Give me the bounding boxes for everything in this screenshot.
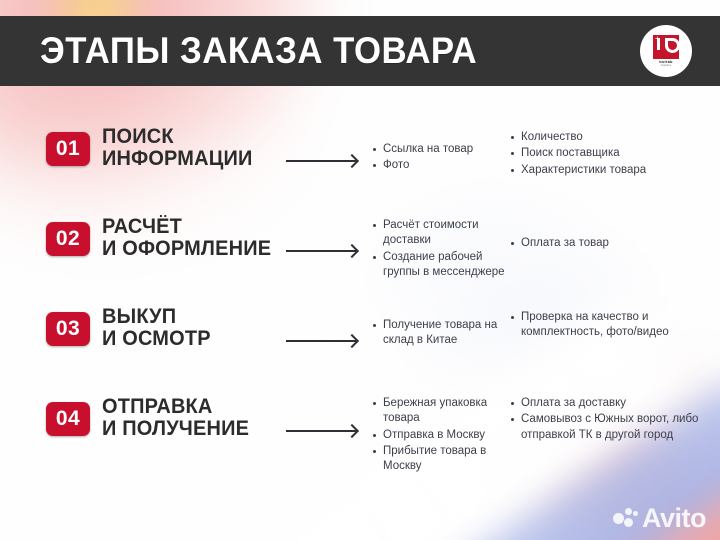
list-item: Поиск поставщика	[510, 146, 706, 161]
step-number-badge: 03	[46, 312, 90, 346]
list-item: Отправка в Москву	[372, 428, 510, 443]
bullet-list: Бережная упаковка товара Отправка в Моск…	[372, 396, 510, 474]
bullet-list: Получение товара на склад в Китае	[372, 318, 510, 349]
step-title-line2: И ПОЛУЧЕНИЕ	[102, 418, 249, 440]
step-title-line1: ПОИСК	[102, 125, 174, 148]
step-title-line2: И ОСМОТР	[102, 328, 211, 350]
step-middle-column: Ссылка на товар Фото	[372, 118, 510, 175]
page-title: ЭТАПЫ ЗАКАЗА ТОВАРА	[40, 30, 477, 72]
step-middle-column: Получение товара на склад в Китае	[372, 298, 510, 350]
avito-watermark: Avito	[613, 505, 706, 532]
list-item: Прибытие товара в Москву	[372, 444, 510, 475]
infographic-canvas: ЭТАПЫ ЗАКАЗА ТОВАРА + bstrab logistics 0…	[0, 0, 720, 540]
logo-plus-icon: +	[655, 36, 661, 42]
list-item: Оплата за доставку	[510, 396, 706, 411]
step-title-line2: И ОФОРМЛЕНИЕ	[102, 238, 271, 260]
step-right-column: Оплата за доставку Самовывоз с Южных вор…	[510, 388, 706, 444]
step-arrow	[286, 208, 372, 298]
list-item: Расчёт стоимости доставки	[372, 218, 510, 249]
list-item: Проверка на качество и комплектность, фо…	[510, 310, 706, 341]
bullet-list: Расчёт стоимости доставки Создание рабоч…	[372, 218, 510, 280]
step-arrow	[286, 388, 372, 478]
step-number-badge: 04	[46, 402, 90, 436]
bullet-list: Проверка на качество и комплектность, фо…	[510, 310, 706, 341]
bullet-list: Оплата за доставку Самовывоз с Южных вор…	[510, 396, 706, 443]
list-item: Характеристики товара	[510, 163, 706, 178]
list-item: Получение товара на склад в Китае	[372, 318, 510, 349]
step-title-line1: РАСЧЁТ	[102, 215, 182, 238]
arrow-right-icon	[286, 340, 356, 342]
steps-list: 01 ПОИСК ИНФОРМАЦИИ Ссылка на товар Фото…	[0, 118, 720, 478]
list-item: Создание рабочей группы в мессенджере	[372, 250, 510, 281]
step-heading: 03 ВЫКУП И ОСМОТР	[0, 298, 286, 351]
step-row: 01 ПОИСК ИНФОРМАЦИИ Ссылка на товар Фото…	[0, 118, 720, 208]
arrow-right-icon	[286, 250, 356, 252]
step-number-badge: 02	[46, 222, 90, 256]
step-title-line1: ОТПРАВКА	[102, 395, 213, 418]
step-row: 03 ВЫКУП И ОСМОТР Получение товара на ск…	[0, 298, 720, 388]
list-item: Ссылка на товар	[372, 142, 510, 157]
logo-tagline: logistics	[661, 64, 671, 67]
step-heading: 02 РАСЧЁТ И ОФОРМЛЕНИЕ	[0, 208, 286, 261]
step-title-line1: ВЫКУП	[102, 305, 176, 328]
step-heading: 01 ПОИСК ИНФОРМАЦИИ	[0, 118, 286, 171]
step-number-badge: 01	[46, 132, 90, 166]
bullet-list: Ссылка на товар Фото	[372, 142, 510, 174]
list-item: Самовывоз с Южных ворот, либо отправкой …	[510, 412, 706, 443]
bullet-list: Количество Поиск поставщика Характеристи…	[510, 130, 706, 178]
step-row: 04 ОТПРАВКА И ПОЛУЧЕНИЕ Бережная упаковк…	[0, 388, 720, 478]
list-item: Фото	[372, 158, 510, 173]
header-banner: ЭТАПЫ ЗАКАЗА ТОВАРА + bstrab logistics	[0, 16, 720, 86]
step-middle-column: Бережная упаковка товара Отправка в Моск…	[372, 388, 510, 475]
step-row: 02 РАСЧЁТ И ОФОРМЛЕНИЕ Расчёт стоимости …	[0, 208, 720, 298]
step-right-column: Количество Поиск поставщика Характеристи…	[510, 118, 706, 179]
list-item: Бережная упаковка товара	[372, 396, 510, 427]
step-title-line2: ИНФОРМАЦИИ	[102, 148, 253, 170]
step-title: ВЫКУП И ОСМОТР	[102, 306, 211, 351]
list-item: Количество	[510, 130, 706, 145]
step-title: ПОИСК ИНФОРМАЦИИ	[102, 126, 253, 171]
avito-wordmark: Avito	[642, 505, 706, 532]
step-title: ОТПРАВКА И ПОЛУЧЕНИЕ	[102, 396, 249, 441]
step-arrow	[286, 298, 372, 388]
arrow-right-icon	[286, 430, 356, 432]
step-arrow	[286, 118, 372, 208]
logo-mark-icon: +	[653, 35, 679, 59]
step-middle-column: Расчёт стоимости доставки Создание рабоч…	[372, 208, 510, 281]
step-title: РАСЧЁТ И ОФОРМЛЕНИЕ	[102, 216, 271, 261]
bullet-list: Оплата за товар	[510, 236, 706, 251]
avito-dots-icon	[613, 508, 639, 530]
step-heading: 04 ОТПРАВКА И ПОЛУЧЕНИЕ	[0, 388, 286, 441]
list-item: Оплата за товар	[510, 236, 706, 251]
step-right-column: Проверка на качество и комплектность, фо…	[510, 298, 706, 342]
arrow-right-icon	[286, 160, 356, 162]
brand-logo: + bstrab logistics	[640, 25, 692, 77]
step-right-column: Оплата за товар	[510, 208, 706, 252]
